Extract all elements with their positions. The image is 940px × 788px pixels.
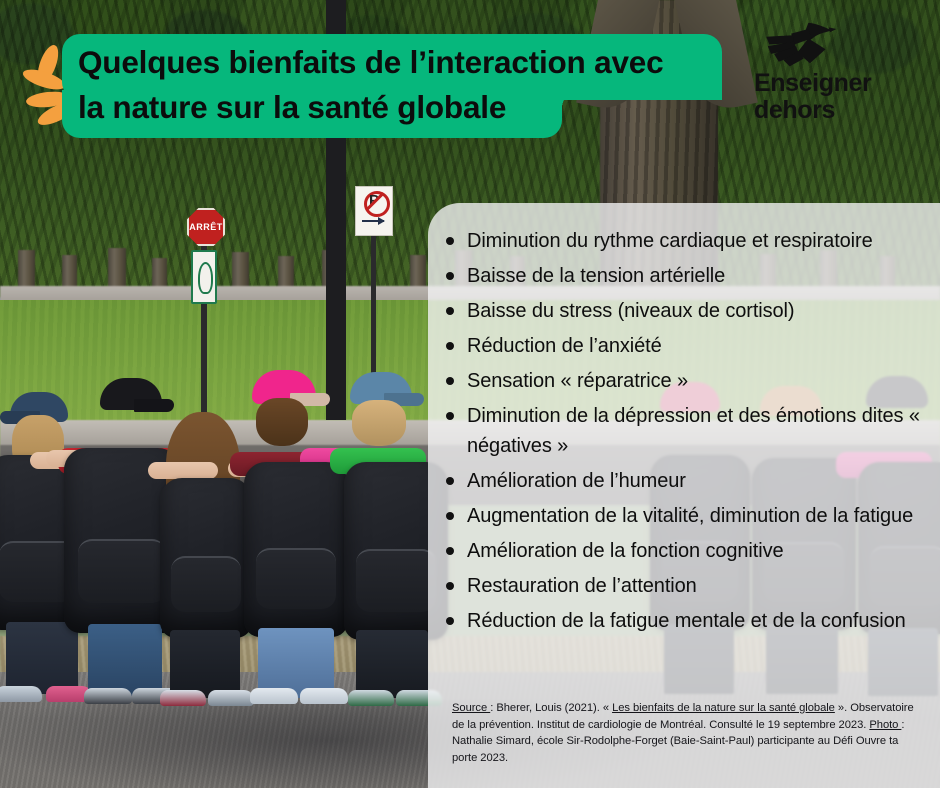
benefit-label: Diminution du rythme cardiaque et respir… [467,226,928,256]
no-parking-arrow-icon [362,220,384,222]
legs [356,630,428,698]
bullet-icon [446,272,454,280]
legs [6,622,78,694]
shoe [300,688,348,704]
benefit-item: Réduction de la fatigue mentale et de la… [446,606,928,636]
bullet-icon [446,582,454,590]
benefit-label: Baisse de la tension artérielle [467,261,928,291]
benefit-label: Réduction de la fatigue mentale et de la… [467,606,928,636]
shoe [250,688,298,704]
page-title: Quelques bienfaits de l’interaction avec… [78,40,778,130]
bullet-icon [446,237,454,245]
bullet-icon [446,377,454,385]
legs [88,624,162,696]
hair [256,398,308,446]
benefit-item: Amélioration de l’humeur [446,466,928,496]
hair [352,400,406,446]
source-label: Source [452,702,490,714]
benefit-label: Amélioration de la fonction cognitive [467,536,928,566]
benefit-item: Baisse de la tension artérielle [446,261,928,291]
brand-name: Enseigner dehors [754,70,922,124]
shoe [160,690,206,706]
benefit-item: Réduction de l’anxiété [446,331,928,361]
shoe [0,686,42,702]
cap-brim [134,399,174,412]
bullet-icon [446,477,454,485]
title-panel: Quelques bienfaits de l’interaction avec… [62,34,722,138]
hummingbird-leaf-logo-icon [760,18,838,68]
cap [100,378,162,410]
photo-label: Photo [869,719,901,731]
bullet-icon [446,307,454,315]
benefit-label: Baisse du stress (niveaux de cortisol) [467,296,928,326]
benefit-item: Baisse du stress (niveaux de cortisol) [446,296,928,326]
poster-root: ARRÊT P [0,0,940,788]
source-work-title: Les bienfaits de la nature sur la santé … [612,702,835,714]
benefit-label: Augmentation de la vitalité, diminution … [467,501,928,531]
directional-sign [191,250,217,304]
bullet-icon [446,512,454,520]
bullet-icon [446,547,454,555]
benefit-label: Diminution de la dépression et des émoti… [467,401,928,461]
benefit-label: Amélioration de l’humeur [467,466,928,496]
benefit-label: Réduction de l’anxiété [467,331,928,361]
legs [170,630,240,698]
no-parking-sign: P [355,186,393,236]
benefit-item: Diminution du rythme cardiaque et respir… [446,226,928,256]
backpack [160,478,252,638]
bullet-icon [446,412,454,420]
shoe [348,690,394,706]
shoe [208,690,254,706]
benefit-item: Diminution de la dépression et des émoti… [446,401,928,461]
benefit-item: Amélioration de la fonction cognitive [446,536,928,566]
source-caption: Source : Bherer, Louis (2021). « Les bie… [452,700,922,766]
backpack [244,462,348,637]
benefits-list: Diminution du rythme cardiaque et respir… [446,226,928,641]
bullet-icon [446,617,454,625]
bullet-icon [446,342,454,350]
shoe [84,688,132,704]
benefit-item: Sensation « réparatrice » [446,366,928,396]
arm [148,462,218,479]
source-reference: : Bherer, Louis (2021). « [490,702,612,714]
benefit-label: Sensation « réparatrice » [467,366,928,396]
benefit-item: Augmentation de la vitalité, diminution … [446,501,928,531]
brand-logo: Enseigner dehors [754,18,922,124]
benefit-item: Restauration de l’attention [446,571,928,601]
benefit-label: Restauration de l’attention [467,571,928,601]
